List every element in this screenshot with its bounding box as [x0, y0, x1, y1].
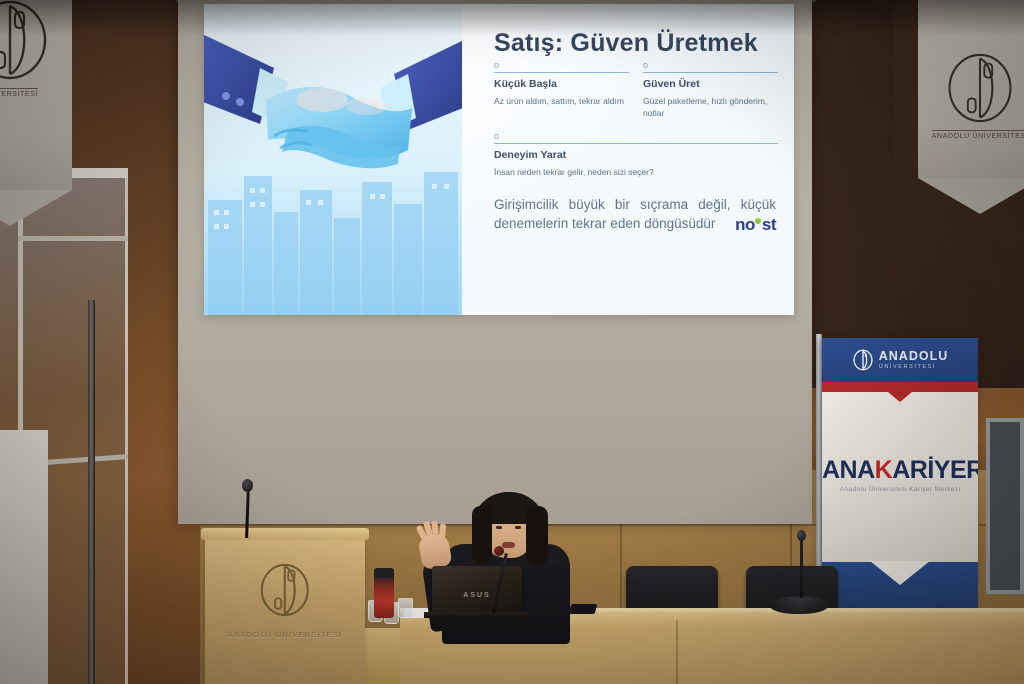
table-microphone-stem — [800, 536, 803, 598]
speaker-microphone-head — [494, 546, 504, 556]
rollup-brand-block: ANAKARİYER Anadolu Üniversitesi Kariyer … — [822, 458, 978, 493]
thermos-flask[interactable] — [374, 576, 394, 618]
slide-text-column: Satış: Güven Üretmek o Küçük Başla Az ür… — [476, 4, 794, 315]
rollup-brand-sub: ÜNİVERSİTESİ — [879, 364, 949, 370]
finger — [431, 520, 439, 536]
podium-microphone-head — [242, 479, 253, 492]
podium-emblem: ANADOLU ÜNİVERSİTESİ — [228, 558, 342, 639]
column-rule: o — [494, 61, 629, 75]
rollup-banner: ANADOLU ÜNİVERSİTESİ ANAKARİYER Anadolu … — [822, 338, 978, 608]
podium-caption: ANADOLU ÜNİVERSİTESİ — [228, 630, 342, 639]
column-2-heading: Güven Üret — [643, 78, 778, 90]
podium-top-surface — [201, 528, 369, 540]
pennant-right-caption: ANADOLU ÜNİVERSİTESİ — [932, 130, 1024, 140]
noist-part-a: no — [735, 215, 755, 234]
pennant-left-caption: ÜNİVERSİTESİ — [0, 88, 38, 98]
glass-side-panel — [0, 430, 48, 684]
bullet-marker-icon: o — [494, 132, 499, 141]
table-microphone-head — [797, 530, 806, 541]
presentation-slide: Satış: Güven Üretmek o Küçük Başla Az ür… — [204, 4, 794, 315]
full-block-heading: Deneyim Yarat — [494, 149, 778, 161]
slide-two-columns: o Küçük Başla Az ürün aldım, sattım, tek… — [494, 61, 778, 121]
divider-line — [494, 143, 778, 144]
rollup-red-stripe — [822, 382, 978, 392]
conference-hall-photo: ÜNİVERSİTESİ ANADOLU ÜNİVERSİTESİ — [0, 0, 1024, 684]
lectern-podium: ANADOLU ÜNİVERSİTESİ — [205, 536, 365, 684]
finger — [439, 523, 446, 538]
projection-screen: Satış: Güven Üretmek o Küçük Başla Az ür… — [178, 0, 812, 524]
slide-title: Satış: Güven Üretmek — [494, 28, 778, 59]
noist-part-b: st — [762, 215, 776, 234]
rollup-footer — [822, 562, 978, 608]
wall-pennant-right: ANADOLU ÜNİVERSİTESİ — [918, 0, 1024, 178]
rollup-chevron-icon — [876, 382, 924, 402]
speaker-raised-hand — [417, 532, 452, 571]
speaker-hair-right — [526, 506, 548, 566]
handshake-illustration — [204, 4, 462, 315]
speaker-eye-left — [496, 526, 502, 529]
anadolu-university-logo — [941, 48, 1019, 128]
glass-door-edge[interactable] — [88, 300, 95, 684]
divider-line — [494, 72, 629, 73]
slide-column-2: o Güven Üret Güzel paketleme, hızlı gönd… — [643, 61, 778, 121]
laptop-base — [424, 612, 528, 618]
rollup-header: ANADOLU ÜNİVERSİTESİ — [822, 338, 978, 382]
bullet-marker-icon: o — [643, 61, 648, 70]
slide-full-block: o Deneyim Yarat İnsan neden tekrar gelir… — [494, 132, 778, 179]
anadolu-university-logo — [852, 348, 874, 372]
speaker-eye-right — [515, 526, 521, 529]
slide-closing-statement: Girişimcilik büyük bir sıçrama değil, kü… — [494, 195, 778, 234]
glass-mullion — [18, 236, 128, 241]
drinking-glass[interactable] — [398, 598, 413, 618]
column-2-body: Güzel paketleme, hızlı gönderim, notlar — [643, 95, 778, 121]
column-1-body: Az ürün aldım, sattım, tekrar aldım — [494, 95, 629, 108]
noist-dot-icon — [755, 218, 761, 224]
table-seam — [676, 620, 678, 684]
laptop-brand-label: ASUS — [463, 592, 490, 599]
anadolu-university-logo — [0, 0, 53, 86]
speaker-mouth — [502, 542, 515, 548]
slide-column-1: o Küçük Başla Az ürün aldım, sattım, tek… — [494, 61, 629, 121]
handshake-artwork-svg — [204, 4, 462, 315]
table-microphone-base — [770, 596, 828, 614]
wall-pennant-left: ÜNİVERSİTESİ — [0, 0, 72, 190]
anadolu-university-logo — [254, 558, 316, 622]
bullet-marker-icon: o — [494, 61, 499, 70]
wordmark-ana: ANA — [822, 456, 875, 484]
asus-laptop[interactable]: ASUS — [432, 566, 522, 614]
anakariyer-wordmark: ANAKARİYER — [822, 458, 978, 483]
column-rule: o — [643, 61, 778, 75]
wall-framed-poster — [986, 418, 1024, 594]
speaker-hair-left — [472, 506, 492, 564]
full-block-rule: o — [494, 132, 778, 146]
closing-text: Girişimcilik büyük bir sıçrama değil, kü… — [494, 197, 776, 232]
rollup-footer-chevron-icon — [870, 561, 930, 585]
noist-logo: nost — [735, 213, 776, 238]
thermos-cap — [374, 568, 394, 578]
anakariyer-subtitle: Anadolu Üniversitesi Kariyer Merkezi — [822, 486, 978, 493]
divider-line — [643, 72, 778, 73]
column-1-heading: Küçük Başla — [494, 78, 629, 90]
full-block-body: İnsan neden tekrar gelir, neden sizi seç… — [494, 166, 778, 179]
wordmark-k: K — [875, 456, 893, 484]
wordmark-ariyer: ARİYER — [892, 456, 978, 484]
rollup-brand-name: ANADOLU — [879, 350, 949, 363]
